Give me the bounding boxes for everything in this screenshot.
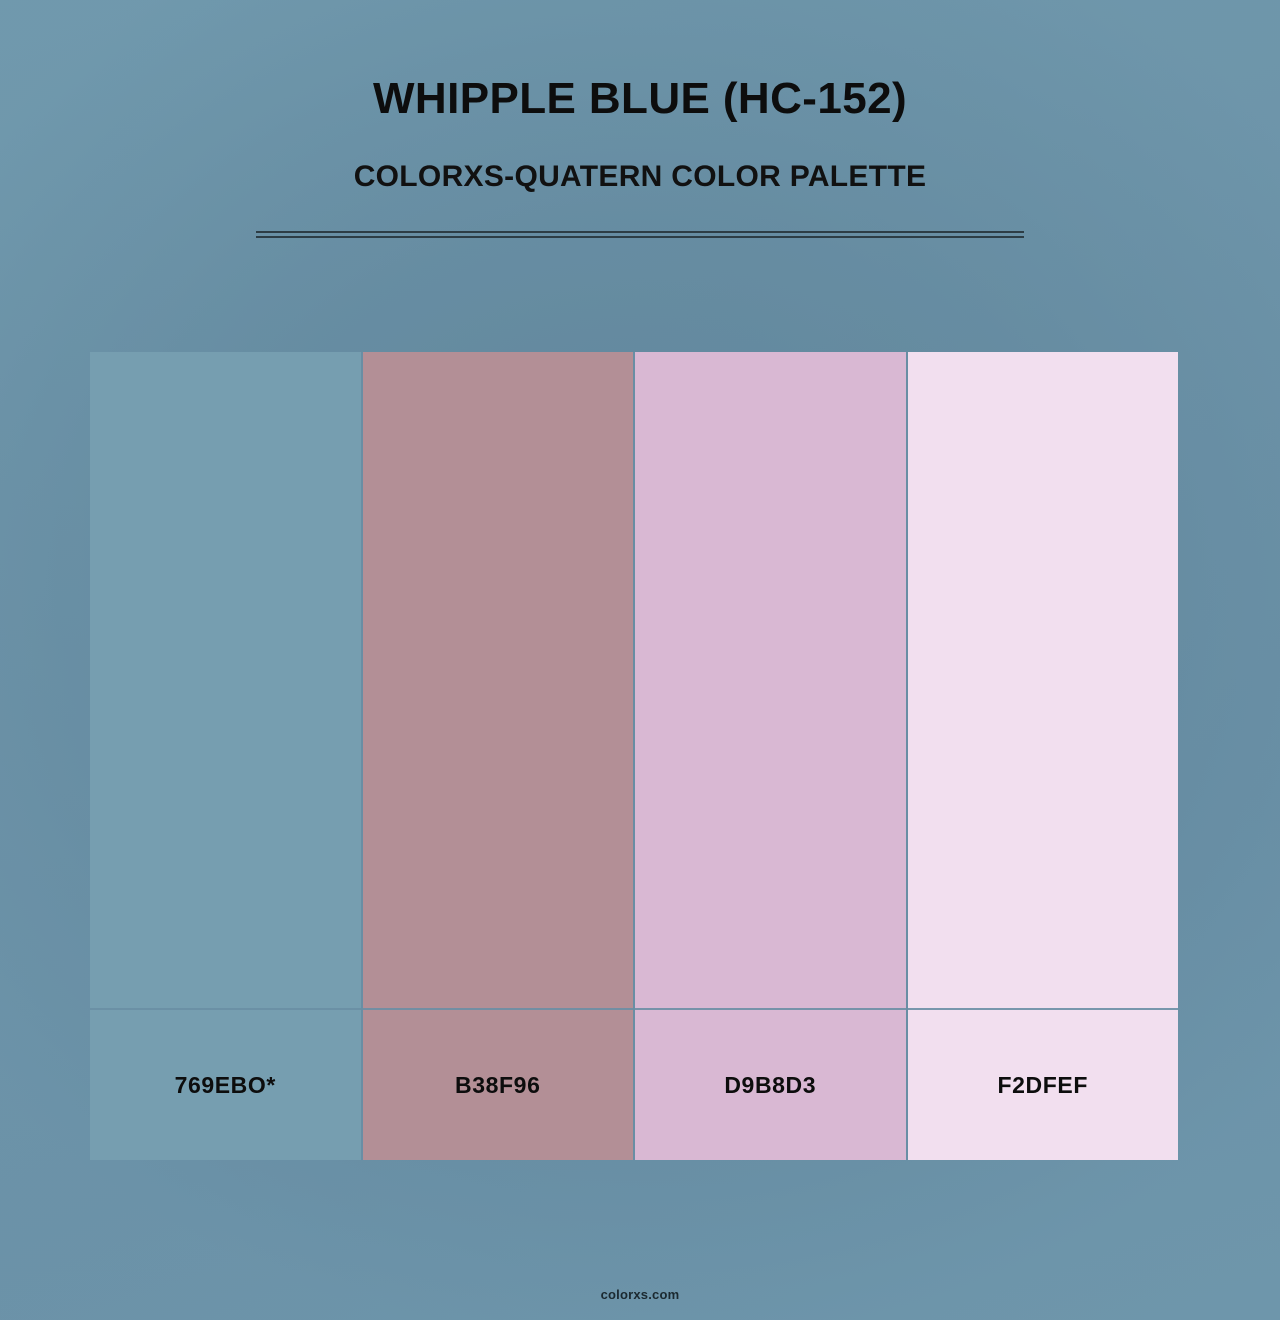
footer-site-label: colorxs.com — [601, 1287, 680, 1302]
swatch-column-4[interactable]: F2DFEF — [908, 352, 1179, 1160]
swatch-column-3[interactable]: D9B8D3 — [635, 352, 908, 1160]
color-swatch-1[interactable] — [90, 352, 361, 1008]
color-swatch-4[interactable] — [908, 352, 1179, 1008]
swatch-hex-label-3: D9B8D3 — [724, 1072, 816, 1099]
swatch-hex-label-2: B38F96 — [455, 1072, 540, 1099]
page-title: WHIPPLE BLUE (HC-152) — [0, 0, 1280, 122]
color-swatch-3[interactable] — [635, 352, 906, 1008]
page-subtitle: COLORXS-QUATERN COLOR PALETTE — [0, 122, 1280, 193]
swatch-hex-label-4: F2DFEF — [998, 1072, 1089, 1099]
swatch-column-2[interactable]: B38F96 — [363, 352, 636, 1160]
swatch-label-cell-3: D9B8D3 — [635, 1008, 906, 1160]
swatch-column-1[interactable]: 769EBO* — [90, 352, 363, 1160]
divider-line-top — [256, 231, 1024, 233]
title-divider — [256, 231, 1024, 238]
swatch-label-cell-4: F2DFEF — [908, 1008, 1179, 1160]
footer: colorxs.com — [0, 1286, 1280, 1304]
swatch-label-cell-2: B38F96 — [363, 1008, 634, 1160]
color-palette: 769EBO* B38F96 D9B8D3 F2DFEF — [90, 352, 1178, 1160]
color-swatch-2[interactable] — [363, 352, 634, 1008]
header: WHIPPLE BLUE (HC-152) COLORXS-QUATERN CO… — [0, 0, 1280, 193]
swatch-label-cell-1: 769EBO* — [90, 1008, 361, 1160]
divider-line-bottom — [256, 236, 1024, 238]
swatch-hex-label-1: 769EBO* — [175, 1072, 276, 1099]
